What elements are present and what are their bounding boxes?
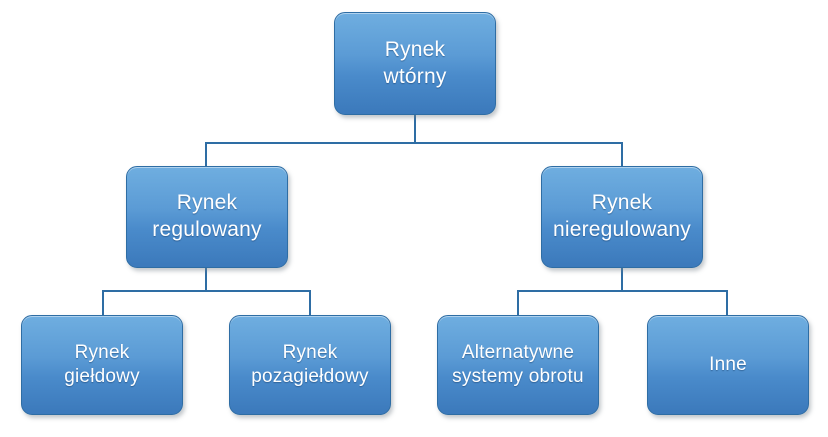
connector-to-otc bbox=[309, 290, 311, 316]
connector-root-stem bbox=[414, 115, 416, 143]
connector-right-subtree-bar bbox=[517, 290, 728, 292]
diagram-canvas: Rynek wtórny Rynek regulowany Rynek nier… bbox=[0, 0, 828, 437]
node-rynek-regulowany[interactable]: Rynek regulowany bbox=[126, 166, 288, 268]
connector-unregulated-stem bbox=[621, 268, 623, 291]
node-rynek-gieldowy[interactable]: Rynek giełdowy bbox=[21, 315, 183, 415]
connector-to-other bbox=[726, 290, 728, 316]
connector-level1-bar bbox=[205, 142, 623, 144]
node-rynek-pozagieldowy[interactable]: Rynek pozagiełdowy bbox=[229, 315, 391, 415]
connector-to-exchange bbox=[102, 290, 104, 316]
connector-regulated-stem bbox=[205, 268, 207, 291]
node-label: Rynek pozagiełdowy bbox=[243, 341, 377, 390]
node-rynek-wtorny[interactable]: Rynek wtórny bbox=[334, 12, 496, 115]
node-label: Rynek regulowany bbox=[144, 190, 269, 244]
connector-left-subtree-bar bbox=[102, 290, 311, 292]
connector-to-unregulated bbox=[621, 142, 623, 167]
node-rynek-nieregulowany[interactable]: Rynek nieregulowany bbox=[541, 166, 703, 268]
node-alternatywne-systemy-obrotu[interactable]: Alternatywne systemy obrotu bbox=[437, 315, 599, 415]
node-label: Rynek nieregulowany bbox=[545, 190, 699, 244]
node-label: Rynek wtórny bbox=[375, 37, 454, 91]
connector-to-ats bbox=[517, 290, 519, 316]
node-label: Rynek giełdowy bbox=[56, 341, 148, 390]
node-label: Alternatywne systemy obrotu bbox=[444, 341, 592, 390]
node-inne[interactable]: Inne bbox=[647, 315, 809, 415]
connector-to-regulated bbox=[205, 142, 207, 167]
node-label: Inne bbox=[701, 353, 755, 377]
